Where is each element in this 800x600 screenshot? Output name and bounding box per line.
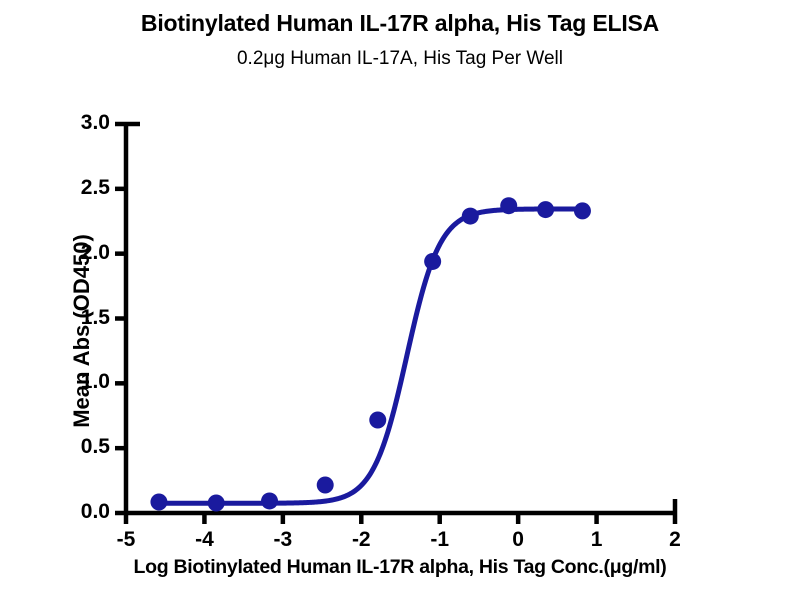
y-tick-label: 2.0: [50, 241, 110, 265]
x-tick-label: -2: [341, 528, 381, 552]
data-points: [150, 197, 591, 511]
data-point: [574, 202, 591, 219]
plot-area: [0, 0, 800, 600]
x-tick-label: -5: [106, 528, 146, 552]
x-tick-label: -1: [420, 528, 460, 552]
data-point: [369, 412, 386, 429]
y-tick-label: 0.5: [50, 435, 110, 459]
y-tick-label: 0.0: [50, 500, 110, 524]
axes: [115, 124, 675, 524]
data-point: [424, 253, 441, 270]
data-point: [500, 197, 517, 214]
data-point: [462, 208, 479, 225]
y-tick-label: 2.5: [50, 176, 110, 200]
data-point: [317, 476, 334, 493]
x-tick-label: 1: [577, 528, 617, 552]
fit-curve: [159, 209, 583, 503]
y-tick-label: 3.0: [50, 111, 110, 135]
chart-subtitle: 0.2μg Human IL-17A, His Tag Per Well: [0, 48, 800, 70]
data-point: [537, 201, 554, 218]
chart-title: Biotinylated Human IL-17R alpha, His Tag…: [0, 10, 800, 37]
x-axis-label: Log Biotinylated Human IL-17R alpha, His…: [0, 556, 800, 579]
y-tick-label: 1.5: [50, 306, 110, 330]
x-tick-label: 0: [498, 528, 538, 552]
chart-figure: Biotinylated Human IL-17R alpha, His Tag…: [0, 0, 800, 600]
x-tick-label: 2: [655, 528, 695, 552]
data-point: [261, 492, 278, 509]
data-point: [150, 493, 167, 510]
y-tick-label: 1.0: [50, 370, 110, 394]
x-tick-label: -3: [263, 528, 303, 552]
data-point: [208, 495, 225, 512]
x-tick-label: -4: [184, 528, 224, 552]
